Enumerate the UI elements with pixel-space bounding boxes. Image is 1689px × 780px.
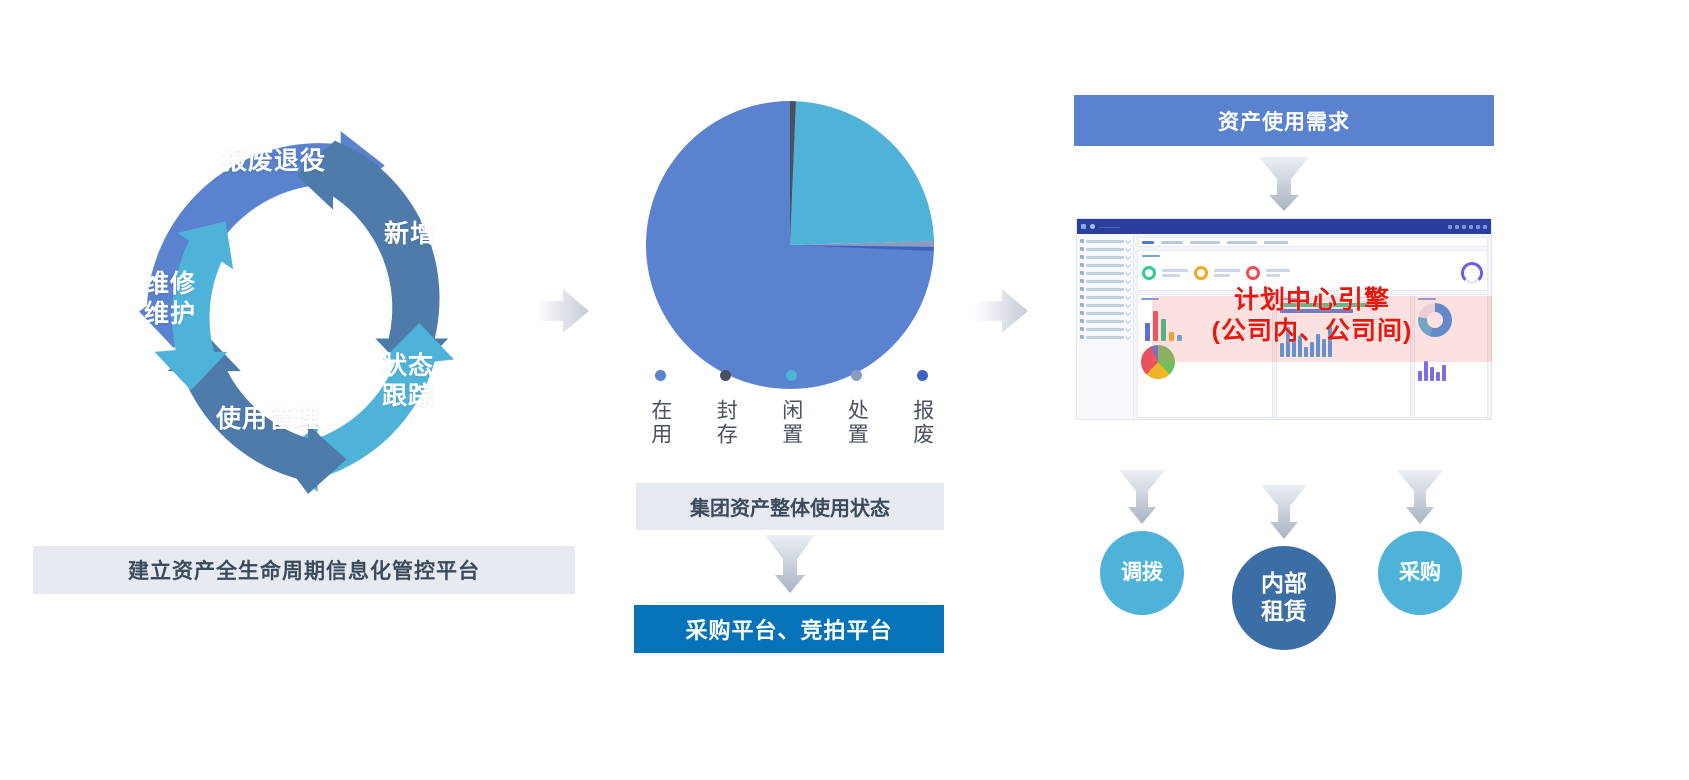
legend-item-3: 处置: [833, 370, 881, 470]
chevron-icon: [1125, 278, 1131, 284]
funnel-arrow-down-icon: [1395, 468, 1445, 526]
sidebar-label: [1086, 256, 1124, 259]
funnel-arrow-demand: [1257, 155, 1311, 213]
connector-arrow-1: [533, 285, 591, 342]
sidebar-icon: [1080, 303, 1084, 307]
legend-dot-icon: [917, 370, 928, 381]
sidebar-icon: [1080, 247, 1084, 251]
asset-status-pie-chart: [640, 95, 940, 395]
lease-line1: 内部: [1261, 570, 1307, 596]
action-icon: [1455, 225, 1459, 229]
tab-item: [1227, 241, 1257, 244]
sidebar-label: [1086, 288, 1124, 291]
action-icon: [1476, 225, 1480, 229]
kpi-text: [1162, 269, 1188, 277]
action-icon: [1483, 225, 1487, 229]
action-icon: [1448, 225, 1452, 229]
right-arrow-icon: [533, 285, 591, 337]
outcome-circle-lease-text: 内部 租赁: [1261, 570, 1307, 625]
tab-item: [1264, 241, 1288, 244]
action-icon: [1462, 225, 1466, 229]
asset-status-banner: 集团资产整体使用状态: [636, 483, 944, 530]
plan-engine-line1: 计划中心引擎: [1122, 285, 1502, 316]
chevron-icon: [1125, 262, 1131, 268]
sidebar-label: [1086, 296, 1124, 299]
sidebar-item: [1077, 269, 1133, 277]
legend-dot-icon: [786, 370, 797, 381]
sidebar-item: [1077, 245, 1133, 253]
sidebar-label: [1086, 320, 1124, 323]
sidebar-item: [1077, 277, 1133, 285]
kpi-text: [1214, 269, 1240, 277]
sidebar-label: [1086, 264, 1124, 267]
sidebar-icon: [1080, 311, 1084, 315]
action-icon: [1469, 225, 1473, 229]
sidebar-icon: [1080, 263, 1084, 267]
sidebar-label: [1086, 240, 1124, 243]
sidebar-item: [1077, 261, 1133, 269]
right-arrow-icon: [972, 285, 1030, 337]
funnel-arrow-middle: [763, 533, 817, 595]
outcome-circle-purchase: 采购: [1378, 531, 1462, 615]
titlebar-actions: [1448, 225, 1487, 229]
sidebar-item: [1077, 237, 1133, 245]
legend-dot-icon: [851, 370, 862, 381]
lease-line2: 租赁: [1261, 598, 1307, 624]
tab-item: [1190, 241, 1220, 244]
sidebar-icon: [1080, 295, 1084, 299]
sidebar-label: [1086, 248, 1124, 251]
diagram-canvas: 报废退役 新增 状态 跟踪 使用管理 维修 维护 建立资产全生命周期信息化管控平…: [0, 0, 1689, 780]
kpi-card-title: [1142, 255, 1160, 257]
funnel-arrow-allocate: [1117, 468, 1167, 526]
sidebar-label: [1086, 336, 1124, 339]
plan-engine-line2: (公司内、公司间): [1122, 316, 1502, 347]
dashboard-title: —————: [1099, 224, 1121, 229]
funnel-arrow-down-icon: [1117, 468, 1167, 526]
legend-item-2: 闲置: [767, 370, 815, 470]
lifecycle-platform-banner: 建立资产全生命周期信息化管控平台: [33, 546, 575, 594]
sidebar-label: [1086, 272, 1124, 275]
outcome-circle-internal-lease: 内部 租赁: [1232, 546, 1336, 650]
sidebar-label: [1086, 304, 1124, 307]
kpi-row: [1142, 260, 1483, 286]
sidebar-icon: [1080, 279, 1084, 283]
legend-item-0: 在用: [636, 370, 684, 470]
legend-label: 闲置: [778, 399, 804, 447]
sidebar-icon: [1080, 335, 1084, 339]
tab-item: [1142, 241, 1154, 244]
asset-lifecycle-cycle: 报废退役 新增 状态 跟踪 使用管理 维修 维护: [110, 105, 530, 505]
kpi-text: [1266, 269, 1290, 277]
pie-graphic: [640, 95, 940, 395]
chevron-icon: [1125, 254, 1131, 260]
sidebar-icon: [1080, 239, 1084, 243]
outcome-circle-allocate: 调拨: [1100, 531, 1184, 615]
sidebar-icon: [1080, 319, 1084, 323]
funnel-arrow-lease: [1259, 483, 1309, 541]
cycle-arrows-graphic: [110, 105, 530, 505]
funnel-arrow-purchase: [1395, 468, 1445, 526]
funnel-arrow-down-icon: [1259, 483, 1309, 541]
legend-label: 处置: [844, 399, 870, 447]
sidebar-icon: [1080, 327, 1084, 331]
dashboard-tabbar: [1137, 237, 1488, 247]
sidebar-label: [1086, 312, 1124, 315]
sidebar-item: [1077, 253, 1133, 261]
funnel-arrow-down-icon: [1257, 155, 1311, 213]
legend-item-1: 封存: [702, 370, 750, 470]
kpi-ring-red-icon: [1246, 266, 1260, 280]
legend-dot-icon: [655, 370, 666, 381]
sidebar-icon: [1080, 271, 1084, 275]
kpi-ring-orange-icon: [1194, 266, 1208, 280]
menu-icon: [1081, 224, 1086, 229]
dashboard-titlebar: —————: [1077, 219, 1491, 234]
sidebar-icon: [1080, 287, 1084, 291]
procurement-platform-banner: 采购平台、竞拍平台: [634, 605, 944, 653]
legend-dot-icon: [720, 370, 731, 381]
sidebar-label: [1086, 280, 1124, 283]
legend-label: 封存: [713, 399, 739, 447]
funnel-arrow-down-icon: [763, 533, 817, 595]
tab-item: [1161, 241, 1183, 244]
pie-legend: 在用 封存 闲置 处置 报废: [636, 370, 946, 470]
kpi-ring-green-icon: [1142, 266, 1156, 280]
plan-engine-overlay-text: 计划中心引擎 (公司内、公司间): [1122, 285, 1502, 346]
gauge-icon: [1461, 262, 1483, 284]
chevron-icon: [1125, 246, 1131, 252]
sidebar-label: [1086, 328, 1124, 331]
connector-arrow-2: [972, 285, 1030, 342]
logo-icon: [1090, 224, 1095, 229]
legend-label: 在用: [647, 399, 673, 447]
legend-item-4: 报废: [898, 370, 946, 470]
sidebar-icon: [1080, 255, 1084, 259]
asset-demand-banner: 资产使用需求: [1074, 95, 1494, 146]
chevron-icon: [1125, 238, 1131, 244]
legend-label: 报废: [909, 399, 935, 447]
chevron-icon: [1125, 270, 1131, 276]
